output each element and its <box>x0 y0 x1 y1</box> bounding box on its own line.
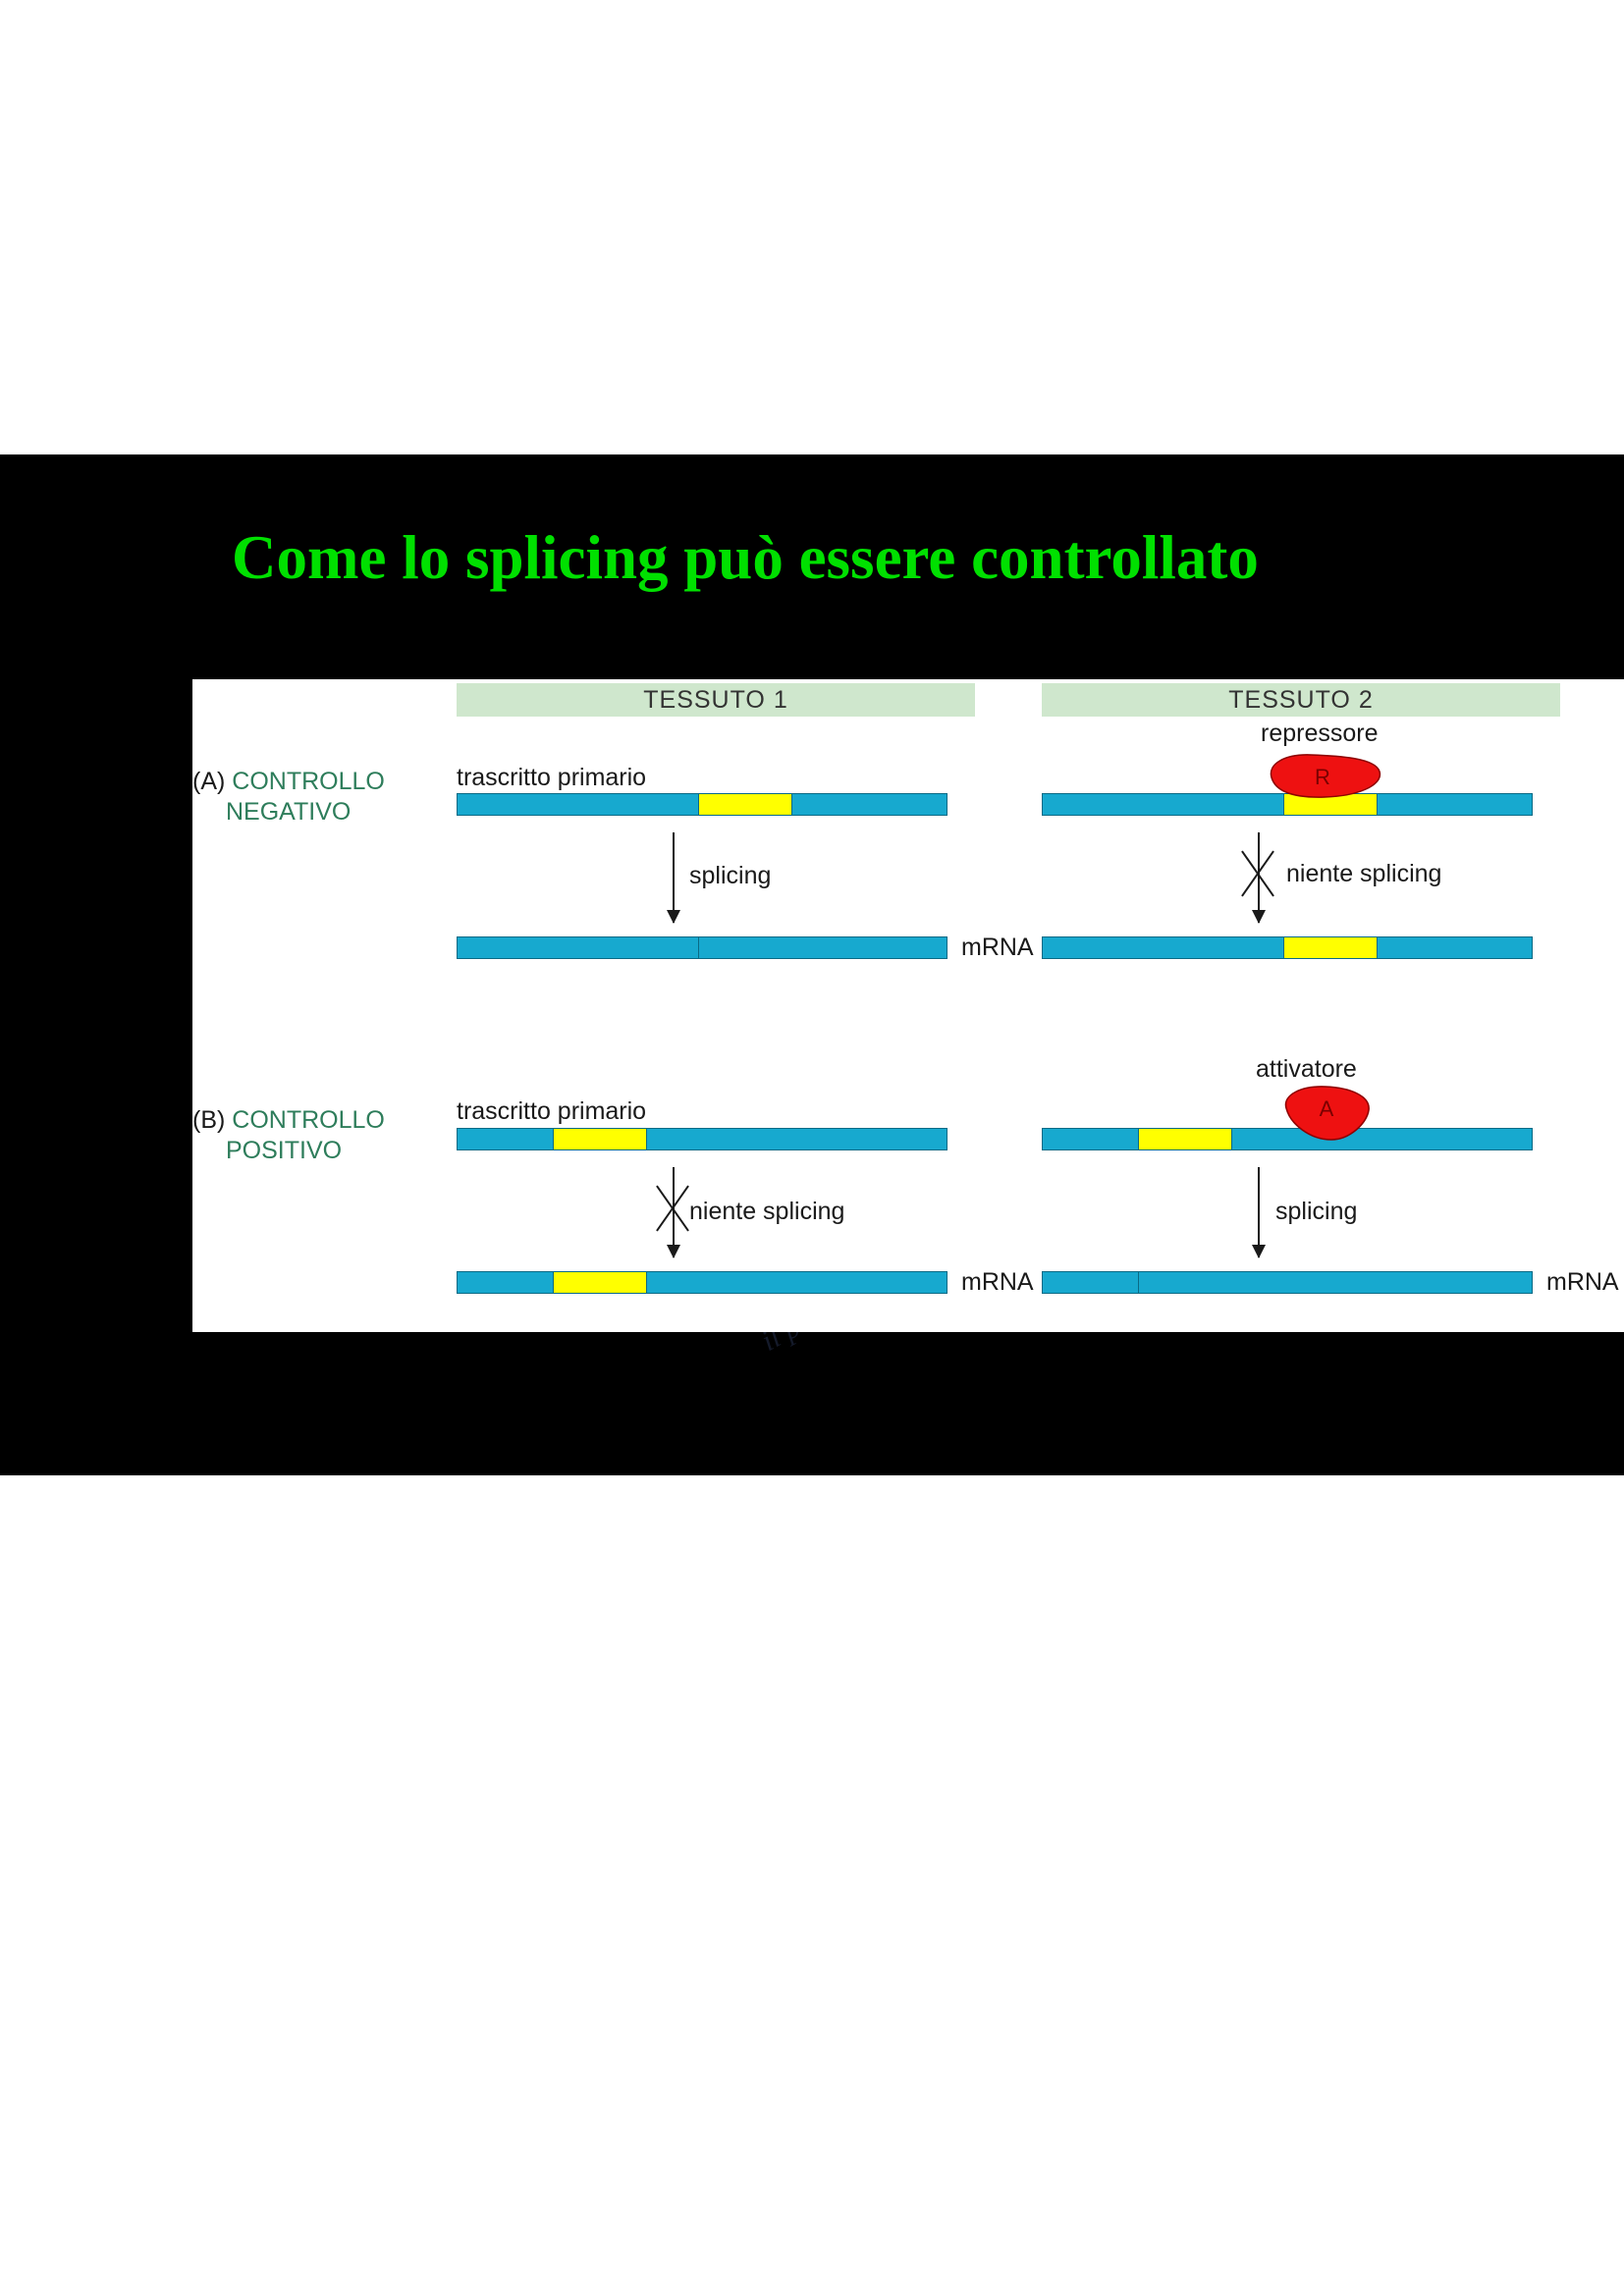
row-a-tissue1-arrow <box>673 832 675 923</box>
row-b-tissue1-splicing-label: niente splicing <box>689 1198 844 1226</box>
row-b-tissue2-splicing-label: splicing <box>1275 1198 1357 1226</box>
row-a-label-line2: NEGATIVO <box>192 797 448 828</box>
intron-segment <box>553 1272 647 1293</box>
intron-segment <box>553 1129 647 1149</box>
activator-label: attivatore <box>1256 1055 1357 1084</box>
row-b-tag: (B) <box>192 1106 225 1134</box>
row-a-tissue1-mrna-label: mRNA <box>961 934 1034 962</box>
row-b-tissue1-unspliced-rna <box>457 1271 947 1294</box>
tissue-2-header: TESSUTO 2 <box>1042 683 1560 717</box>
repressor-label: repressore <box>1261 720 1379 748</box>
slide-canvas: Come lo splicing può essere controllato … <box>0 454 1624 1475</box>
row-a-tissue1-primary-transcript <box>457 793 947 816</box>
page-title: Come lo splicing può essere controllato <box>232 525 1624 590</box>
intron-segment <box>1283 937 1378 958</box>
activator-protein-shape: A <box>1280 1085 1373 1142</box>
row-b-label-line1: CONTROLLO <box>232 1106 385 1134</box>
row-b-tissue2-arrow <box>1258 1167 1260 1257</box>
row-a-label-line1: CONTROLLO <box>232 768 385 795</box>
repressor-letter: R <box>1262 765 1383 790</box>
row-b-tissue1-mrna-label: mRNA <box>961 1268 1034 1297</box>
row-b-label-line2: POSITIVO <box>192 1136 448 1166</box>
intron-segment <box>698 794 792 815</box>
row-b-tissue1-primary-transcript <box>457 1128 947 1150</box>
row-a-tissue2-splicing-label: niente splicing <box>1286 860 1441 888</box>
row-b-primary-transcript-caption: trascritto primario <box>457 1097 646 1126</box>
row-b-label: (B) CONTROLLO POSITIVO <box>192 1105 448 1167</box>
row-a-label: (A) CONTROLLO NEGATIVO <box>192 767 448 828</box>
row-b-tissue2-mrna-label: mRNA <box>1546 1268 1619 1297</box>
row-a-tissue1-splicing-label: splicing <box>689 862 771 890</box>
intron-segment <box>1138 1129 1232 1149</box>
row-a-tissue1-mrna <box>457 936 947 959</box>
row-a-primary-transcript-caption: trascritto primario <box>457 764 646 792</box>
tissue-1-header: TESSUTO 1 <box>457 683 975 717</box>
row-b-tissue2-mrna <box>1042 1271 1533 1294</box>
activator-letter: A <box>1280 1096 1373 1122</box>
row-a-tissue2-block-cross <box>1230 846 1285 901</box>
splicing-control-diagram: TESSUTO 1 TESSUTO 2 (A) CONTROLLO NEGATI… <box>192 679 1624 1332</box>
repressor-protein-shape: R <box>1262 752 1383 799</box>
row-a-tissue2-unspliced-rna <box>1042 936 1533 959</box>
exon-junction-line <box>1138 1272 1139 1293</box>
row-a-tag: (A) <box>192 768 225 795</box>
exon-junction-line <box>698 937 699 958</box>
